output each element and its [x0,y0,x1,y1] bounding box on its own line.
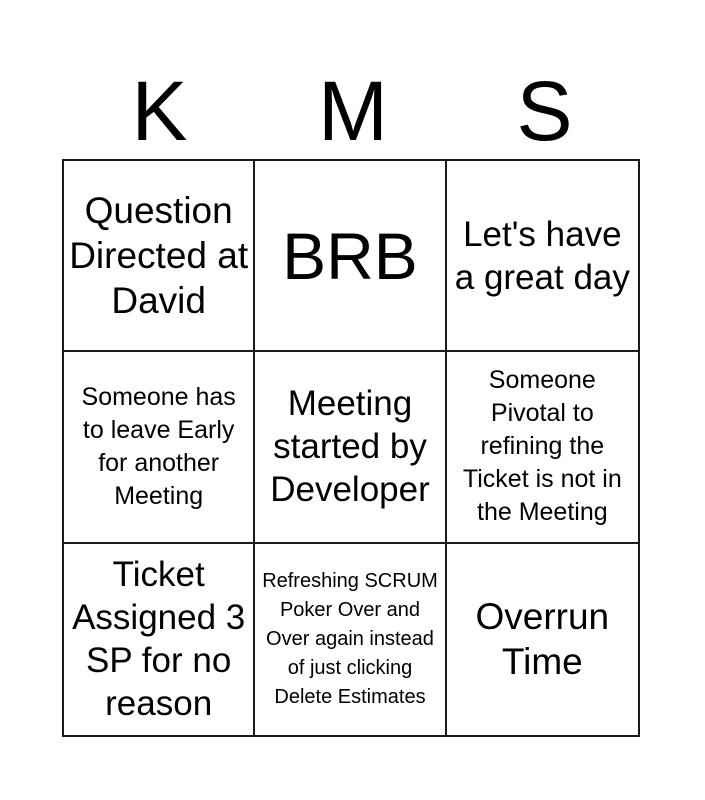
bingo-cell-label: Question Directed at David [68,188,249,323]
bingo-cell-r1-c1[interactable]: Meeting started by Developer [255,352,446,543]
bingo-cell-label: Someone Pivotal to refining the Ticket i… [451,364,634,529]
bingo-cell-r0-c1[interactable]: BRB [255,161,446,352]
bingo-header-letter-3: S [449,66,640,156]
bingo-header-row: K M S [62,62,640,159]
bingo-cell-r0-c2[interactable]: Let's have a great day [447,161,638,352]
bingo-cell-label: Overrun Time [451,594,634,684]
bingo-cell-label: Meeting started by Developer [259,382,440,511]
bingo-cell-r0-c0[interactable]: Question Directed at David [64,161,255,352]
bingo-cell-label: Let's have a great day [451,213,634,299]
bingo-cell-r2-c2[interactable]: Overrun Time [447,544,638,735]
bingo-cell-r2-c1[interactable]: Refreshing SCRUM Poker Over and Over aga… [255,544,446,735]
bingo-cell-label: Someone has to leave Early for another M… [68,381,249,513]
bingo-cell-r1-c0[interactable]: Someone has to leave Early for another M… [64,352,255,543]
bingo-header-letter-2: M [257,66,449,156]
bingo-cell-label: Ticket Assigned 3 SP for no reason [68,553,249,725]
bingo-cell-label: BRB [259,219,440,293]
bingo-header-letter-1: K [62,66,257,156]
bingo-card: K M S Question Directed at David BRB Let… [0,0,705,800]
bingo-cell-r2-c0[interactable]: Ticket Assigned 3 SP for no reason [64,544,255,735]
bingo-cell-r1-c2[interactable]: Someone Pivotal to refining the Ticket i… [447,352,638,543]
bingo-cell-label: Refreshing SCRUM Poker Over and Over aga… [259,567,440,712]
bingo-grid: Question Directed at David BRB Let's hav… [62,159,640,737]
